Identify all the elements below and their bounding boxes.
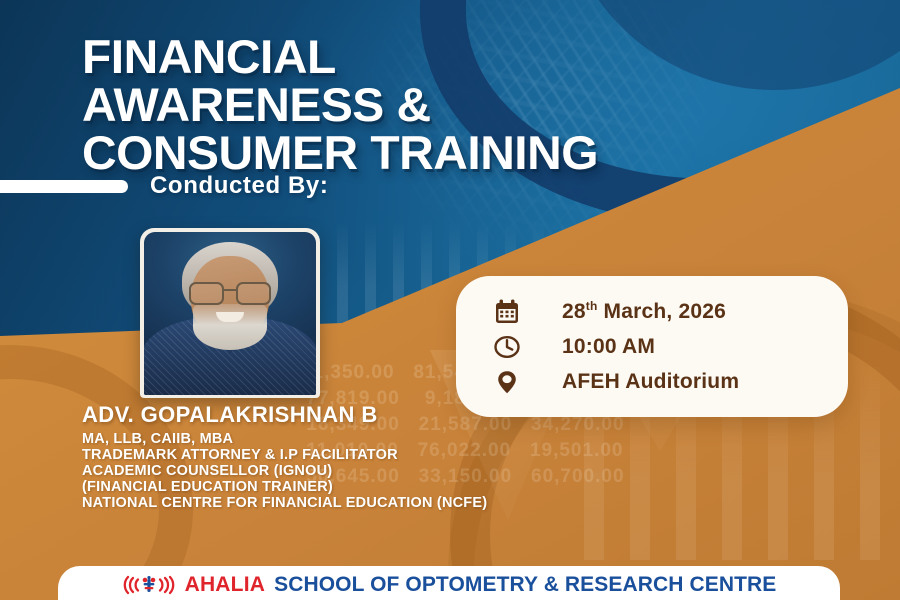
speaker-portrait: [144, 232, 316, 395]
credential-line: ACADEMIC COUNSELLOR (IGNOU): [82, 464, 487, 480]
event-time-text: 10:00 AM: [562, 335, 655, 359]
speaker-name: ADV. GOPALAKRISHNAN B: [82, 402, 378, 428]
title-line-1: FINANCIAL: [82, 36, 857, 78]
event-poster: 1,350.00 81,543.00 43,110.00 77,819.00 9…: [0, 0, 900, 600]
speaker-photo-frame: [140, 228, 320, 398]
clock-icon: [490, 334, 524, 360]
event-date-text: 28th March, 2026: [562, 299, 726, 324]
poster-title: FINANCIAL AWARENESS & CONSUMER TRAINING: [82, 36, 842, 180]
accent-bar: [0, 180, 128, 193]
footer-brand-row: AHALIA SCHOOL OF OPTOMETRY & RESEARCH CE…: [122, 573, 777, 597]
credential-line: MA, LLB, CAIIB, MBA: [82, 432, 487, 448]
credential-line: TRADEMARK ATTORNEY & I.P FACILITATOR: [82, 448, 487, 464]
title-line-2: AWARENESS &: [82, 84, 857, 126]
calendar-icon: [490, 299, 524, 325]
event-venue-text: AFEH Auditorium: [562, 370, 739, 394]
glasses-left-lens: [189, 282, 224, 305]
event-details-card: 28th March, 2026 10:00 AM AFEH Auditoriu…: [456, 276, 848, 417]
conducted-by-label: Conducted By:: [150, 172, 328, 200]
title-line-3: CONSUMER TRAINING: [82, 132, 857, 174]
location-pin-icon: [490, 369, 524, 395]
portrait-beard: [193, 304, 267, 350]
speaker-credentials: MA, LLB, CAIIB, MBA TRADEMARK ATTORNEY &…: [82, 432, 487, 512]
event-venue-row: AFEH Auditorium: [490, 364, 848, 399]
glasses-right-lens: [236, 282, 271, 305]
institution-name: SCHOOL OF OPTOMETRY & RESEARCH CENTRE: [274, 573, 776, 597]
credential-line: (FINANCIAL EDUCATION TRAINER): [82, 480, 487, 496]
event-time-row: 10:00 AM: [490, 329, 848, 364]
brand-name: AHALIA: [185, 573, 266, 597]
ahalia-logo-icon: [122, 575, 176, 595]
footer-bar: AHALIA SCHOOL OF OPTOMETRY & RESEARCH CE…: [58, 566, 840, 600]
conducted-by-row: Conducted By:: [0, 172, 328, 200]
event-date-row: 28th March, 2026: [490, 294, 848, 329]
portrait-glasses: [189, 282, 271, 302]
credential-line: NATIONAL CENTRE FOR FINANCIAL EDUCATION …: [82, 496, 487, 512]
